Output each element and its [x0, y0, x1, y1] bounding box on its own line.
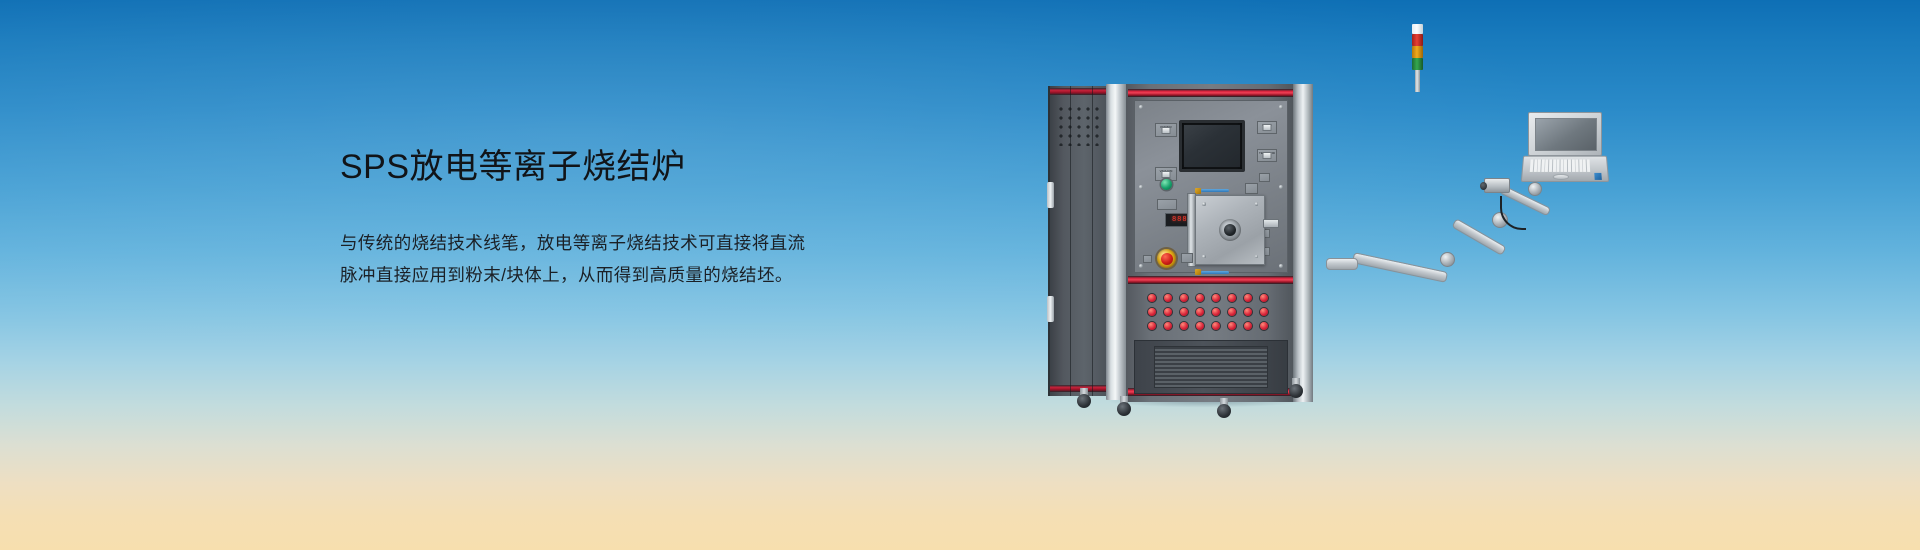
cabinet-seam [1070, 86, 1071, 396]
operator-laptop[interactable] [1522, 112, 1608, 186]
panel-screw [1139, 264, 1143, 268]
accent-band-top [1128, 89, 1294, 97]
indicator-plate [1143, 255, 1152, 263]
switch-module-power[interactable]: POWER [1155, 123, 1177, 137]
control-panel: POWER VACUUM PULSE TEMP CTRL [1134, 100, 1288, 273]
toggle-switch[interactable] [1263, 124, 1272, 131]
frame-post-left [1106, 84, 1128, 400]
frame-post-right [1293, 84, 1313, 402]
chamber-door-latch[interactable] [1263, 219, 1279, 228]
tower-lamp-amber [1412, 46, 1423, 58]
gas-line-lower [1201, 271, 1229, 274]
caster-wheel [1116, 396, 1132, 416]
signal-tower-light [1411, 24, 1424, 90]
lower-louvre-grille [1154, 346, 1268, 388]
ventilation-grille [1058, 106, 1104, 146]
arm-joint-lower[interactable] [1440, 252, 1455, 267]
laptop-keyboard[interactable] [1530, 159, 1590, 171]
panel-screw [1279, 105, 1283, 109]
arm-mount-bracket [1326, 258, 1358, 270]
hero-banner: SPS放电等离子烧结炉 与传统的烧结技术线笔，放电等离子烧结技术可直接将直流 脉… [0, 0, 1920, 550]
switch-module-gas[interactable] [1245, 183, 1258, 194]
process-camera [1484, 178, 1510, 193]
sintering-chamber-door[interactable] [1195, 195, 1265, 265]
chamber-screw [1202, 202, 1206, 206]
reset-button-plate[interactable] [1181, 253, 1193, 263]
main-cabinet: POWER VACUUM PULSE TEMP CTRL [1126, 84, 1296, 402]
switch-module-temp[interactable]: TEMP CTRL [1257, 149, 1277, 162]
indicator-lamp-array [1134, 288, 1288, 332]
accent-band-middle [1128, 276, 1294, 284]
arm-joint-upper[interactable] [1528, 182, 1542, 196]
emergency-stop-button[interactable] [1157, 249, 1176, 268]
arm-segment-lower[interactable] [1352, 252, 1448, 283]
gas-line-upper [1201, 189, 1229, 192]
laptop-base [1521, 156, 1609, 182]
observation-port-icon [1219, 219, 1241, 241]
hmi-display[interactable] [1179, 120, 1245, 172]
start-knob-icon[interactable] [1161, 179, 1172, 190]
description-line-2: 脉冲直接应用到粉末/块体上，从而得到高质量的烧结坯。 [340, 259, 900, 291]
readout-label-plate [1157, 199, 1177, 210]
cabinet-door-handle [1047, 182, 1054, 208]
gas-line-elbow-lower [1195, 269, 1201, 275]
chamber-screw [1255, 255, 1259, 259]
panel-screw [1279, 264, 1283, 268]
hmi-display-glass [1184, 125, 1240, 167]
switch-module-pulse[interactable]: PULSE [1257, 121, 1277, 134]
cabinet-door-handle [1047, 296, 1054, 322]
side-cabinet [1048, 86, 1112, 396]
laptop-lid [1528, 112, 1602, 156]
caster-wheel [1216, 398, 1232, 418]
page-title: SPS放电等离子烧结炉 [340, 145, 900, 189]
panel-screw [1139, 185, 1143, 189]
banner-description: 与传统的烧结技术线笔，放电等离子烧结技术可直接将直流 脉冲直接应用到粉末/块体上… [340, 227, 900, 291]
laptop-touchpad[interactable] [1553, 174, 1569, 180]
chamber-screw [1255, 202, 1259, 206]
caster-wheel [1288, 378, 1304, 398]
banner-copy: SPS放电等离子烧结炉 与传统的烧结技术线笔，放电等离子烧结技术可直接将直流 脉… [340, 145, 900, 291]
tower-lamp-green [1412, 58, 1423, 70]
description-line-1: 与传统的烧结技术线笔，放电等离子烧结技术可直接将直流 [340, 227, 900, 259]
product-photo-sps-furnace: POWER VACUUM PULSE TEMP CTRL [1030, 0, 1730, 550]
panel-screw [1139, 105, 1143, 109]
tower-lamp-white [1412, 24, 1423, 34]
laptop-badge-icon [1594, 173, 1602, 180]
panel-screw [1279, 185, 1283, 189]
chamber-screw [1202, 255, 1206, 259]
tower-lamp-red [1412, 34, 1423, 46]
tower-pole [1415, 70, 1420, 92]
laptop-screen[interactable] [1535, 118, 1597, 151]
side-cabinet-trim-top [1050, 88, 1112, 95]
caster-wheel [1076, 388, 1092, 408]
switch-module-mode[interactable] [1259, 173, 1270, 182]
cabinet-seam [1092, 86, 1093, 396]
toggle-switch[interactable] [1162, 127, 1171, 134]
toggle-switch[interactable] [1263, 152, 1272, 159]
toggle-switch[interactable] [1162, 171, 1171, 178]
